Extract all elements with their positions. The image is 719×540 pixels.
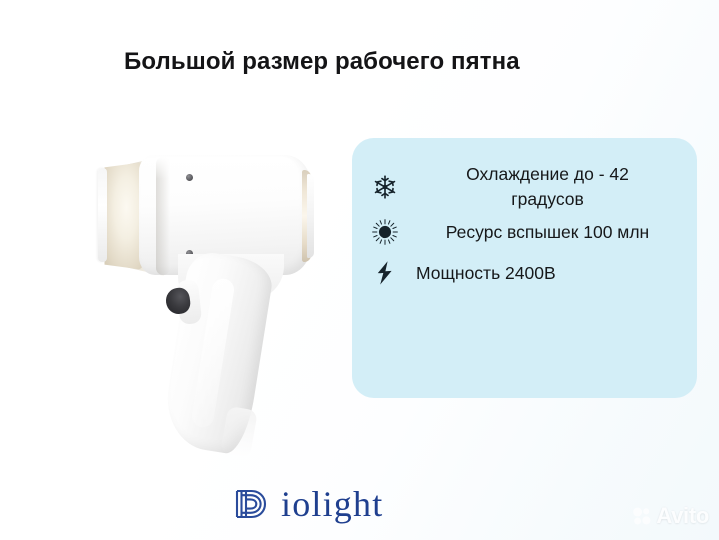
feature-item-power: Мощность 2400В (352, 260, 697, 286)
avito-watermark: Avito (632, 503, 709, 529)
laser-handpiece-image (78, 128, 346, 453)
rear-cap (307, 174, 314, 258)
product-image (78, 128, 346, 453)
applicator-window (102, 162, 144, 270)
avito-dots-icon (632, 506, 652, 526)
avito-watermark-text: Avito (656, 503, 709, 529)
feature-item-flashes: Ресурс вспышек 100 млн (352, 218, 697, 246)
brand-logo: iolight (232, 484, 383, 524)
feature-item-label: Мощность 2400В (412, 261, 697, 286)
feature-item-cooling: Охлаждение до - 42 градусов (352, 162, 697, 212)
diolight-d-monogram-icon (232, 484, 272, 524)
lightning-bolt-icon (358, 260, 412, 286)
applicator-lip (98, 168, 107, 262)
feature-item-label: Охлаждение до - 42 градусов (437, 162, 673, 212)
feature-item-label: Ресурс вспышек 100 млн (412, 220, 697, 245)
sun-icon (358, 218, 412, 246)
body-highlight (148, 157, 298, 179)
feature-list: Охлаждение до - 42 градусов (352, 162, 697, 296)
page-title: Большой размер рабочего пятна (124, 47, 584, 77)
feature-card: Охлаждение до - 42 градусов (352, 138, 697, 398)
snowflake-icon (358, 174, 412, 200)
brand-name: iolight (281, 486, 383, 522)
screw-dot-top (186, 174, 193, 181)
promo-slide: Большой размер рабочего пятна (0, 0, 719, 540)
